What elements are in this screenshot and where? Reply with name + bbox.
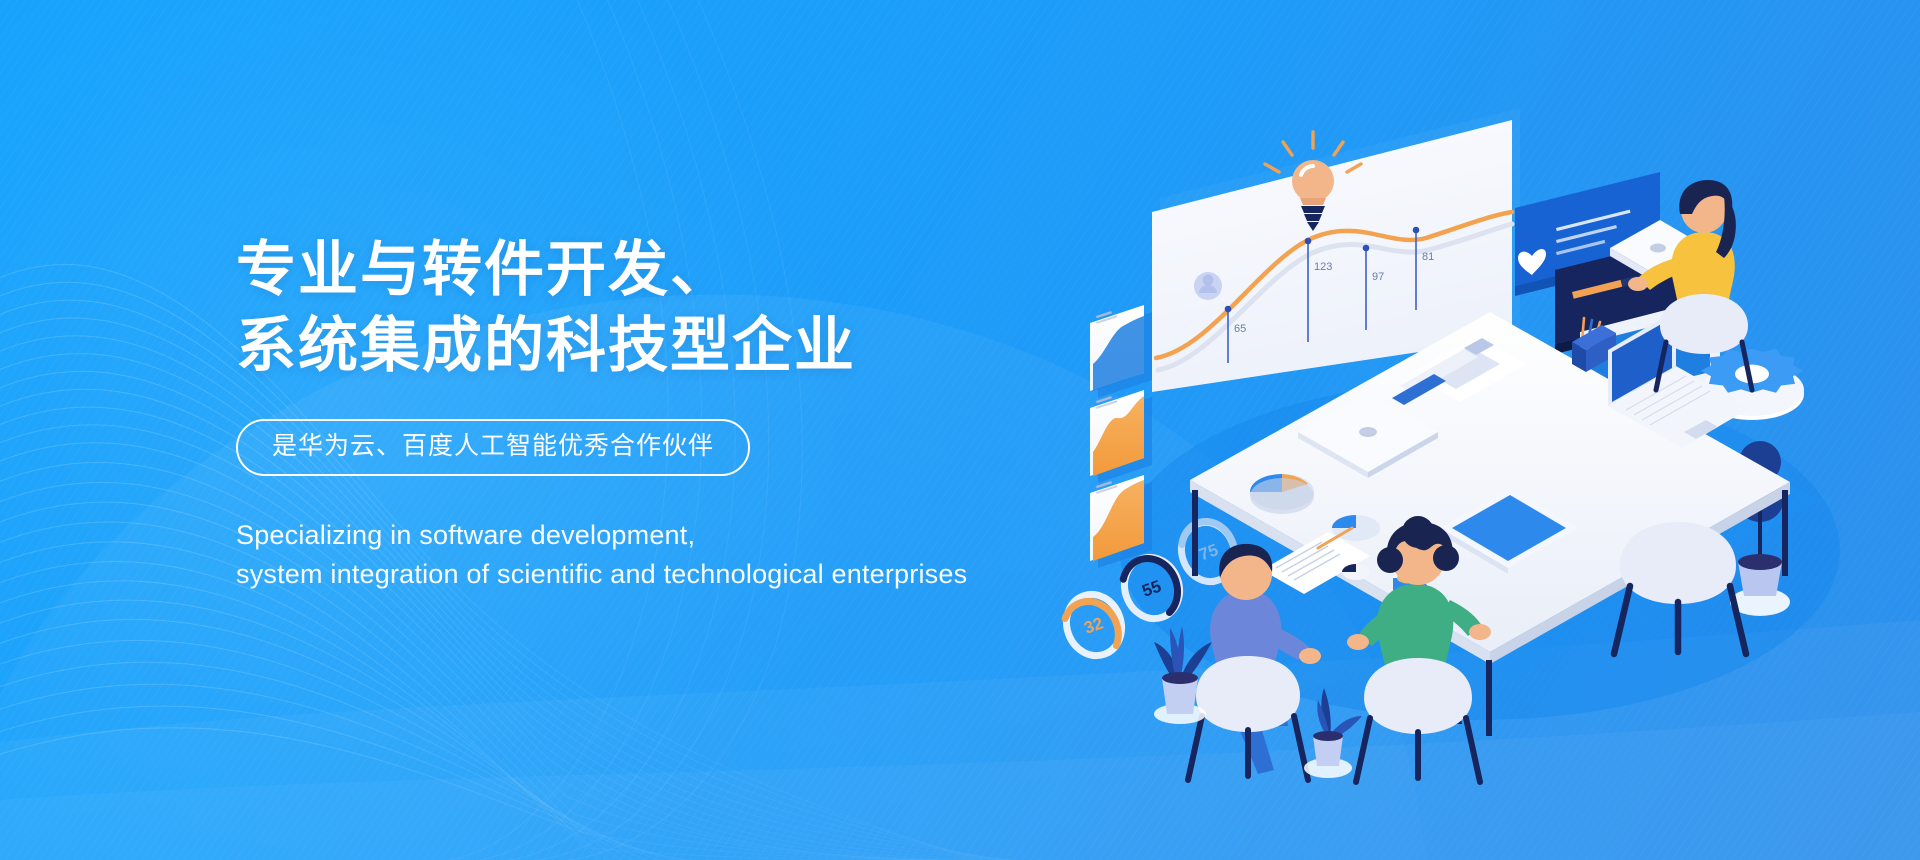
partner-badge: 是华为云、百度人工智能优秀合作伙伴 [236,419,750,476]
avatar [1194,272,1222,300]
chart-label-1: 123 [1314,261,1332,273]
gauge-32-value: 32 [1082,613,1106,637]
subtitle: Specializing in software development, sy… [236,516,1196,593]
gauge-32: 32 [1058,587,1130,664]
chart-label-0: 65 [1234,323,1246,335]
subtitle-line-2: system integration of scientific and tec… [236,555,1196,593]
subtitle-line-1: Specializing in software development, [236,516,1196,554]
hero-copy: 专业与转件开发、 系统集成的科技型企业 是华为云、百度人工智能优秀合作伙伴 Sp… [236,232,1196,593]
mini-area-card-2 [1090,390,1152,483]
chair-icon-center [1356,658,1480,782]
chair-icon-left [1188,656,1308,780]
page-title: 专业与转件开发、 系统集成的科技型企业 [236,232,1196,383]
chart-label-3: 81 [1422,251,1434,263]
chart-label-2: 97 [1372,271,1384,283]
headline-line-1: 专业与转件开发、 [236,232,1196,308]
hero-illustration: 65 123 97 81 [1060,80,1900,760]
headline-line-2: 系统集成的科技型企业 [236,308,1196,384]
side-cards [1090,305,1152,568]
hero-banner: 专业与转件开发、 系统集成的科技型企业 是华为云、百度人工智能优秀合作伙伴 Sp… [0,0,1920,860]
mini-area-card-1 [1090,305,1152,398]
